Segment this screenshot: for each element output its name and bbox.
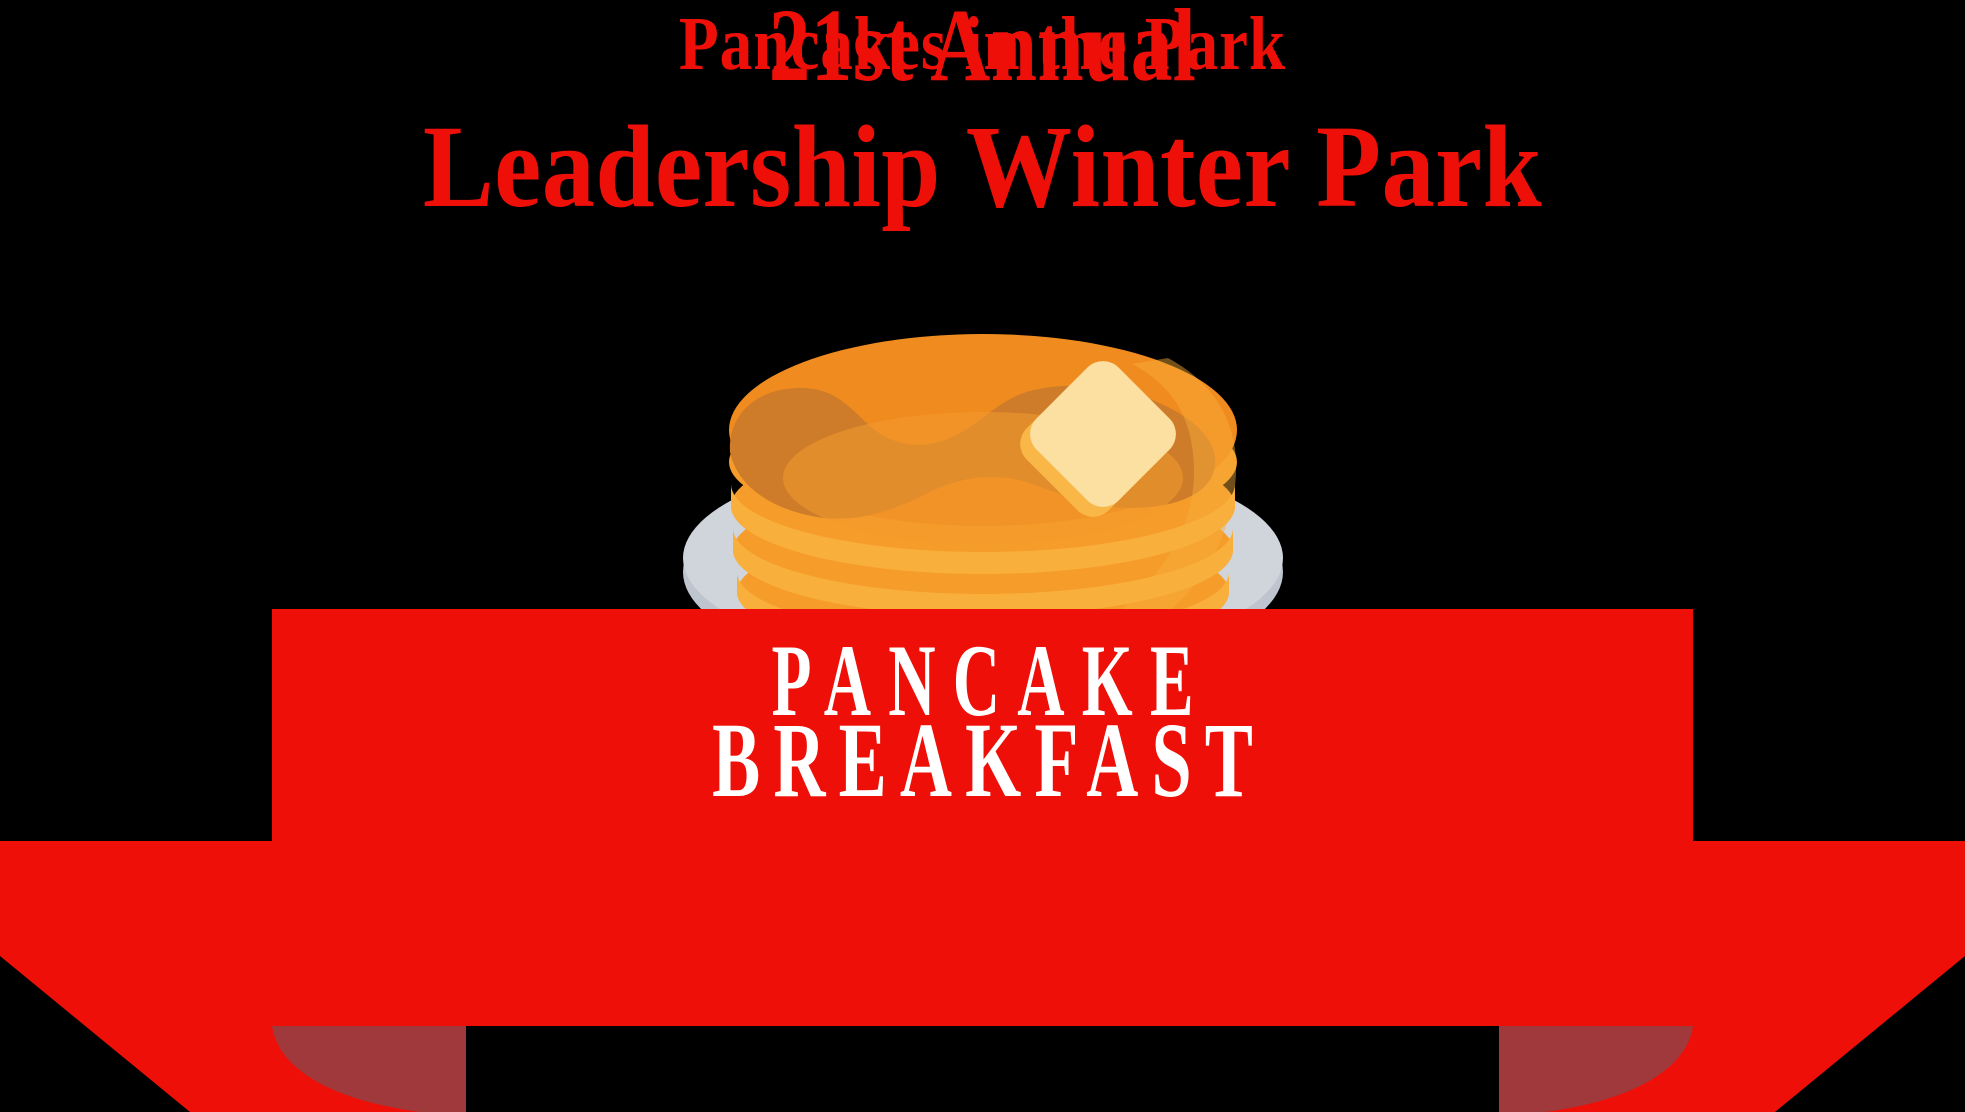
poster-canvas: 21st Annual Leadership Winter Park (0, 0, 1965, 1112)
headline-line-2: Leadership Winter Park (98, 108, 1867, 226)
ribbon-left-wing (0, 841, 272, 1112)
ribbon-right-wing (1693, 841, 1965, 1112)
pancake-icon (478, 240, 1488, 660)
ribbon-text-line-2: BREAKFAST (177, 708, 1788, 815)
sub-banner (466, 1026, 1499, 1112)
pancake-stack-illustration (478, 240, 1488, 660)
sub-banner-text: Pancakes in the Park (138, 1, 1828, 87)
